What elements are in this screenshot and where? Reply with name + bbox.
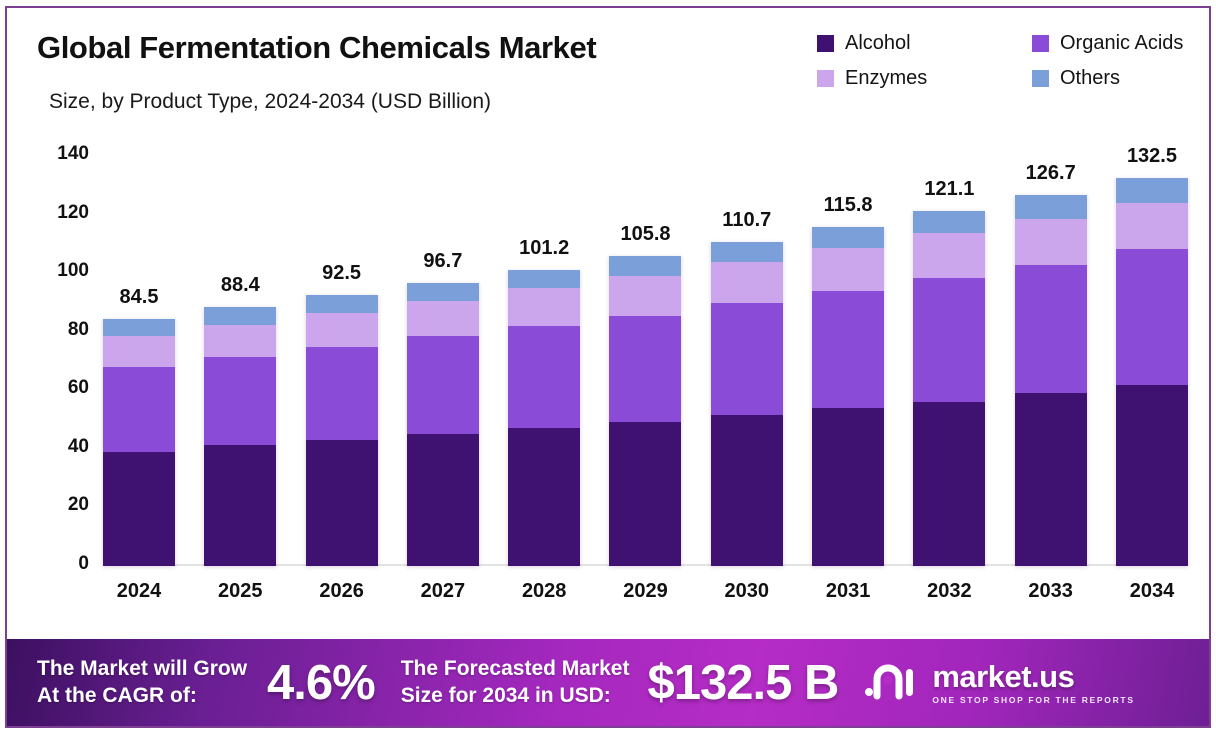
stacked-bar[interactable] [508, 270, 580, 566]
market-us-logo-icon [864, 659, 922, 706]
bar-segment-alcohol[interactable] [1015, 393, 1087, 566]
bar-column-2032[interactable]: 121.1 [913, 138, 985, 566]
stacked-bar[interactable] [407, 283, 479, 566]
x-axis-tick-2031: 2031 [812, 580, 884, 603]
bar-total-label: 115.8 [824, 194, 873, 217]
stacked-bar[interactable] [103, 319, 175, 566]
cagr-caption-line2: At the CAGR of: [37, 683, 247, 709]
y-axis-tick-label: 100 [29, 260, 89, 282]
bar-segment-others[interactable] [103, 319, 175, 336]
bar-segment-others[interactable] [812, 227, 884, 248]
bar-segment-others[interactable] [1116, 178, 1188, 203]
bar-segment-enzymes[interactable] [1015, 219, 1087, 265]
x-axis-tick-2024: 2024 [103, 580, 175, 603]
bar-column-2025[interactable]: 88.4 [204, 138, 276, 566]
bar-segment-others[interactable] [1015, 195, 1087, 219]
y-axis-tick-label: 80 [29, 319, 89, 341]
bar-segment-organic-acids[interactable] [306, 347, 378, 440]
cagr-caption: The Market will Grow At the CAGR of: [37, 656, 247, 709]
x-axis-tick-2028: 2028 [508, 580, 580, 603]
bar-segment-alcohol[interactable] [103, 452, 175, 566]
bar-segment-organic-acids[interactable] [204, 357, 276, 445]
x-axis-labels: 2024202520262027202820292030203120322033… [103, 580, 1188, 603]
stacked-bar[interactable] [711, 242, 783, 566]
bar-segment-others[interactable] [609, 256, 681, 276]
bar-segment-organic-acids[interactable] [1116, 249, 1188, 385]
forecast-size-value: $132.5 B [647, 655, 838, 711]
bar-column-2030[interactable]: 110.7 [711, 138, 783, 566]
bar-segment-alcohol[interactable] [508, 428, 580, 566]
bar-segment-others[interactable] [204, 307, 276, 325]
y-axis: 020406080100120140 [27, 8, 89, 628]
stacked-bar[interactable] [913, 211, 985, 566]
bar-column-2034[interactable]: 132.5 [1116, 138, 1188, 566]
bar-segment-alcohol[interactable] [711, 415, 783, 566]
bar-segment-alcohol[interactable] [204, 445, 276, 566]
bar-segment-alcohol[interactable] [306, 440, 378, 566]
bar-segment-organic-acids[interactable] [508, 326, 580, 429]
bar-column-2024[interactable]: 84.5 [103, 138, 175, 566]
market-us-logo[interactable]: market.us ONE STOP SHOP FOR THE REPORTS [864, 659, 1134, 706]
bar-segment-others[interactable] [508, 270, 580, 289]
bar-column-2027[interactable]: 96.7 [407, 138, 479, 566]
stacked-bar[interactable] [1116, 178, 1188, 566]
bar-segment-others[interactable] [913, 211, 985, 232]
bar-column-2029[interactable]: 105.8 [609, 138, 681, 566]
market-us-logo-text-group: market.us ONE STOP SHOP FOR THE REPORTS [932, 661, 1134, 705]
bar-segment-enzymes[interactable] [103, 336, 175, 367]
market-us-wordmark: market.us [932, 661, 1134, 692]
bar-segment-enzymes[interactable] [407, 301, 479, 337]
y-axis-tick-label: 40 [29, 436, 89, 458]
bar-segment-organic-acids[interactable] [913, 278, 985, 402]
bar-column-2033[interactable]: 126.7 [1015, 138, 1087, 566]
bar-segment-enzymes[interactable] [913, 233, 985, 278]
bar-series-group: 84.588.492.596.7101.2105.8110.7115.8121.… [103, 138, 1188, 566]
bar-segment-enzymes[interactable] [812, 248, 884, 291]
bar-total-label: 96.7 [423, 250, 462, 273]
stacked-bar[interactable] [204, 307, 276, 566]
y-axis-tick-label: 0 [29, 553, 89, 575]
cagr-caption-line1: The Market will Grow [37, 656, 247, 682]
bar-segment-organic-acids[interactable] [609, 316, 681, 422]
bar-total-label: 132.5 [1127, 145, 1177, 168]
forecast-caption-line2: Size for 2034 in USD: [401, 683, 630, 709]
chart-plot-area: 020406080100120140 84.588.492.596.7101.2… [7, 8, 1211, 628]
x-axis-tick-2030: 2030 [711, 580, 783, 603]
x-axis-tick-2029: 2029 [609, 580, 681, 603]
bar-segment-enzymes[interactable] [204, 325, 276, 358]
y-axis-tick-label: 20 [29, 494, 89, 516]
bar-segment-enzymes[interactable] [711, 262, 783, 303]
bar-total-label: 121.1 [924, 178, 974, 201]
x-axis-tick-2032: 2032 [913, 580, 985, 603]
forecast-caption-line1: The Forecasted Market [401, 656, 630, 682]
bar-total-label: 92.5 [322, 262, 361, 285]
bottom-banner: The Market will Grow At the CAGR of: 4.6… [7, 639, 1211, 726]
stacked-bar[interactable] [306, 295, 378, 566]
bar-total-label: 126.7 [1026, 162, 1076, 185]
x-axis-tick-2034: 2034 [1116, 580, 1188, 603]
bar-segment-organic-acids[interactable] [711, 303, 783, 415]
infographic-frame: Global Fermentation Chemicals Market Siz… [5, 6, 1211, 728]
bar-segment-enzymes[interactable] [508, 288, 580, 325]
bar-segment-others[interactable] [711, 242, 783, 262]
bar-column-2028[interactable]: 101.2 [508, 138, 580, 566]
bar-segment-organic-acids[interactable] [103, 367, 175, 452]
y-axis-tick-label: 140 [29, 143, 89, 165]
bar-segment-enzymes[interactable] [306, 313, 378, 347]
x-axis-tick-2033: 2033 [1015, 580, 1087, 603]
y-axis-tick-label: 120 [29, 202, 89, 224]
bar-segment-others[interactable] [306, 295, 378, 313]
bar-segment-organic-acids[interactable] [407, 336, 479, 433]
bar-total-label: 88.4 [221, 274, 260, 297]
bar-column-2031[interactable]: 115.8 [812, 138, 884, 566]
bar-segment-organic-acids[interactable] [812, 291, 884, 408]
bar-segment-alcohol[interactable] [407, 434, 479, 566]
forecast-size-caption: The Forecasted Market Size for 2034 in U… [401, 656, 630, 709]
bar-total-label: 84.5 [120, 286, 159, 309]
stacked-bar[interactable] [1015, 195, 1087, 566]
bar-segment-others[interactable] [407, 283, 479, 301]
bar-segment-alcohol[interactable] [609, 422, 681, 566]
bar-total-label: 105.8 [620, 223, 670, 246]
x-axis-tick-2027: 2027 [407, 580, 479, 603]
x-axis-tick-2026: 2026 [306, 580, 378, 603]
market-us-tagline: ONE STOP SHOP FOR THE REPORTS [932, 695, 1134, 705]
x-axis-tick-2025: 2025 [204, 580, 276, 603]
y-axis-tick-label: 60 [29, 377, 89, 399]
bar-segment-alcohol[interactable] [1116, 385, 1188, 566]
bar-column-2026[interactable]: 92.5 [306, 138, 378, 566]
stacked-bar[interactable] [812, 227, 884, 566]
bar-total-label: 110.7 [722, 209, 771, 232]
bar-total-label: 101.2 [519, 237, 569, 260]
cagr-value: 4.6% [267, 655, 375, 711]
bar-segment-enzymes[interactable] [1116, 203, 1188, 250]
bar-segment-alcohol[interactable] [913, 402, 985, 566]
bar-segment-enzymes[interactable] [609, 276, 681, 315]
bar-segment-organic-acids[interactable] [1015, 265, 1087, 393]
bar-segment-alcohol[interactable] [812, 408, 884, 566]
stacked-bar[interactable] [609, 256, 681, 566]
